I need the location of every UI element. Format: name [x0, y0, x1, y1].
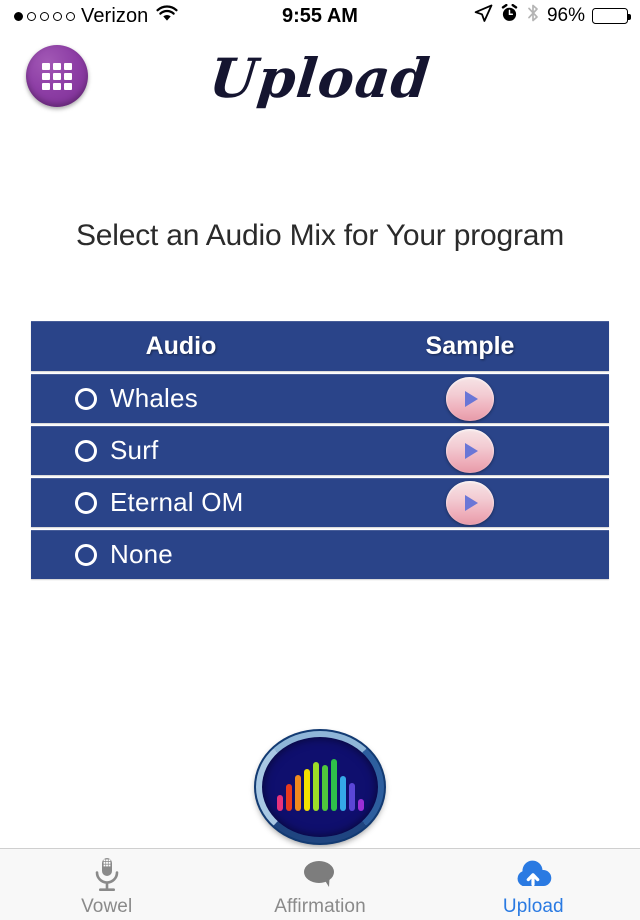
battery-icon [592, 8, 628, 24]
equalizer-bar [295, 775, 301, 811]
radio-button[interactable] [75, 388, 97, 410]
equalizer-bars-icon [277, 755, 364, 811]
play-triangle-icon [465, 391, 478, 407]
tab-affirmation[interactable]: Affirmation [213, 849, 426, 920]
radio-button[interactable] [75, 544, 97, 566]
play-triangle-icon [465, 443, 478, 459]
audio-mix-table: Audio Sample Whales Surf [31, 321, 609, 579]
column-header-sample: Sample [331, 332, 609, 361]
table-row[interactable]: Eternal OM [31, 478, 609, 527]
equalizer-bar [349, 783, 355, 811]
section-heading: Select an Audio Mix for Your program [0, 219, 640, 253]
microphone-icon [90, 856, 124, 894]
equalizer-bar [340, 776, 346, 811]
status-bar-right: 96% [474, 3, 628, 29]
app-header: Upload [0, 32, 640, 124]
table-row[interactable]: Whales [31, 374, 609, 423]
audio-option-whales[interactable]: Whales [31, 383, 331, 414]
carrier-label: Verizon [81, 5, 148, 28]
sample-cell [331, 429, 609, 473]
tab-label: Upload [503, 896, 564, 918]
cloud-upload-icon [511, 856, 555, 894]
radio-button[interactable] [75, 492, 97, 514]
alarm-clock-icon [500, 4, 519, 29]
status-bar-left: Verizon [14, 5, 178, 28]
play-sample-button[interactable] [446, 377, 494, 421]
play-triangle-icon [465, 495, 478, 511]
play-sample-button[interactable] [446, 429, 494, 473]
tab-bar: Vowel Affirmation Upload [0, 848, 640, 920]
table-row[interactable]: Surf [31, 426, 609, 475]
tab-label: Affirmation [274, 896, 366, 918]
equalizer-bar [358, 799, 364, 811]
audio-option-eternal-om[interactable]: Eternal OM [31, 487, 331, 518]
equalizer-bar [286, 784, 292, 811]
tab-label: Vowel [81, 896, 132, 918]
speech-bubble-icon [299, 856, 341, 894]
audio-option-surf[interactable]: Surf [31, 435, 331, 466]
equalizer-bar [277, 795, 283, 811]
sample-cell [331, 481, 609, 525]
radio-button[interactable] [75, 440, 97, 462]
sample-cell [331, 377, 609, 421]
column-header-audio: Audio [31, 332, 331, 361]
audio-option-label: Whales [110, 383, 198, 414]
bluetooth-icon [526, 3, 540, 29]
audio-option-label: None [110, 539, 173, 570]
table-row[interactable]: None [31, 530, 609, 579]
equalizer-bar [313, 762, 319, 811]
audio-option-label: Surf [110, 435, 158, 466]
signal-strength-dots [14, 12, 75, 21]
tab-vowel[interactable]: Vowel [0, 849, 213, 920]
table-header-row: Audio Sample [31, 321, 609, 371]
battery-percentage: 96% [547, 5, 585, 27]
play-sample-button[interactable] [446, 481, 494, 525]
wifi-icon [156, 5, 178, 28]
page-title: Upload [0, 46, 640, 110]
equalizer-bar [331, 759, 337, 811]
status-bar: Verizon 9:55 AM 96 [0, 0, 640, 32]
audio-option-none[interactable]: None [31, 539, 331, 570]
location-arrow-icon [474, 4, 493, 29]
equalizer-bar [304, 769, 310, 811]
logo-badge [256, 731, 384, 843]
equalizer-bar [322, 765, 328, 811]
audio-option-label: Eternal OM [110, 487, 244, 518]
main-content: Select an Audio Mix for Your program Aud… [0, 219, 640, 878]
tab-upload[interactable]: Upload [427, 849, 640, 920]
